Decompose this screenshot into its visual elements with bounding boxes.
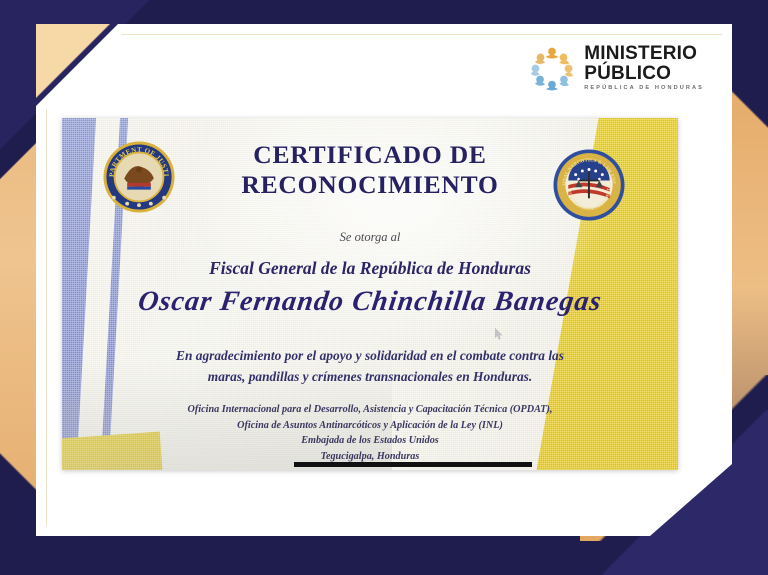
mouse-pointer-icon: [495, 328, 504, 341]
certificate-body-line2: maras, pandillas y crímenes transnaciona…: [108, 367, 632, 388]
logo-line-2: PÚBLICO: [584, 64, 704, 83]
certificate-title-line2: RECONOCIMIENTO: [62, 170, 678, 200]
recipient-role: Fiscal General de la República de Hondur…: [62, 258, 678, 279]
certificate-photo: DEPARTMENT OF JUSTICE: [62, 118, 678, 470]
certificate-body: En agradecimiento por el apoyo y solidar…: [108, 346, 632, 388]
ministerio-publico-logo: MINISTERIO PÚBLICO REPÚBLICA DE HONDURAS: [529, 44, 704, 92]
black-redaction-bar: [294, 462, 532, 467]
recipient-name: Oscar Fernando Chinchilla Banegas: [62, 286, 678, 318]
logo-line-3: REPÚBLICA DE HONDURAS: [584, 86, 704, 92]
presentation-slide: MINISTERIO PÚBLICO REPÚBLICA DE HONDURAS: [0, 0, 768, 575]
certificate-footer-line3: Embajada de los Estados Unidos: [102, 433, 638, 449]
people-circle-logo-icon: [529, 45, 575, 91]
certificate-body-line1: En agradecimiento por el apoyo y solidar…: [108, 346, 632, 367]
awarded-to-label: Se otorga al: [62, 230, 678, 245]
certificate-footer-line2: Oficina de Asuntos Antinarcóticos y Apli…: [102, 418, 638, 434]
certificate-title-line1: CERTIFICADO DE: [62, 140, 678, 170]
logo-line-1: MINISTERIO: [584, 44, 704, 63]
certificate-title: CERTIFICADO DE RECONOCIMIENTO: [62, 140, 678, 200]
certificate-footer-line1: Oficina Internacional para el Desarrollo…: [102, 402, 638, 418]
certificate-footer: Oficina Internacional para el Desarrollo…: [102, 402, 638, 464]
